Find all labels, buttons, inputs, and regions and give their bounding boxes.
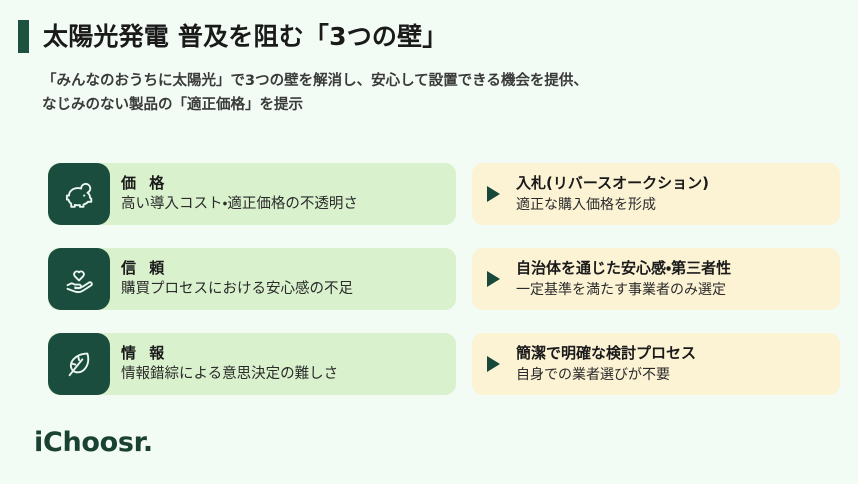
comparison-rows: 価 格 高い導入コスト・適正価格の不透明さ 入札(リバースオークション) 適正な…	[0, 155, 858, 410]
problem-text: 価 格 高い導入コスト・適正価格の不透明さ	[121, 174, 358, 214]
comparison-row: 信 頼 購買プロセスにおける安心感の不足 自治体を通じた安心感・第三者性 一定基…	[0, 240, 858, 325]
play-arrow-icon	[487, 271, 500, 287]
solution-title: 簡潔で明確な検討プロセス	[516, 344, 696, 364]
solution-description: 自身での業者選びが不要	[516, 366, 696, 384]
solution-title: 自治体を通じた安心感・第三者性	[516, 259, 731, 279]
solution-card-municipality: 自治体を通じた安心感・第三者性 一定基準を満たす事業者のみ選定	[472, 248, 840, 310]
piggy-bank-icon	[48, 163, 110, 225]
solution-description: 一定基準を満たす事業者のみ選定	[516, 281, 731, 299]
problem-title: 価 格	[121, 174, 358, 193]
problem-card-price: 価 格 高い導入コスト・適正価格の不透明さ	[48, 163, 456, 225]
leaf-icon	[48, 333, 110, 395]
comparison-row: 情 報 情報錯綜による意思決定の難しさ 簡潔で明確な検討プロセス 自身での業者選…	[0, 325, 858, 410]
slide-root: 太陽光発電 普及を阻む「3つの壁」 「みんなのおうちに太陽光」で3つの壁を解消し…	[0, 0, 858, 484]
title-text: 太陽光発電 普及を阻む「3つの壁」	[43, 24, 448, 49]
title-accent-bar	[18, 20, 29, 53]
solution-text: 自治体を通じた安心感・第三者性 一定基準を満たす事業者のみ選定	[516, 259, 731, 299]
solution-description: 適正な購入価格を形成	[516, 196, 709, 214]
solution-title: 入札(リバースオークション)	[516, 174, 709, 194]
solution-card-auction: 入札(リバースオークション) 適正な購入価格を形成	[472, 163, 840, 225]
play-arrow-icon	[487, 186, 500, 202]
solution-card-process: 簡潔で明確な検討プロセス 自身での業者選びが不要	[472, 333, 840, 395]
problem-description: 情報錯綜による意思決定の難しさ	[121, 365, 338, 384]
play-arrow-icon	[487, 356, 500, 372]
problem-card-information: 情 報 情報錯綜による意思決定の難しさ	[48, 333, 456, 395]
problem-text: 信 頼 購買プロセスにおける安心感の不足	[121, 259, 353, 299]
comparison-row: 価 格 高い導入コスト・適正価格の不透明さ 入札(リバースオークション) 適正な…	[0, 155, 858, 240]
brand-logo: iChoosr.	[34, 429, 153, 456]
problem-description: 購買プロセスにおける安心感の不足	[121, 280, 353, 299]
heart-in-hand-icon	[48, 248, 110, 310]
solution-text: 簡潔で明確な検討プロセス 自身での業者選びが不要	[516, 344, 696, 384]
problem-title: 情 報	[121, 344, 338, 363]
page-title: 太陽光発電 普及を阻む「3つの壁」	[18, 20, 448, 53]
subtitle-line-1: 「みんなのおうちに太陽光」で3つの壁を解消し、安心して設置できる機会を提供、	[42, 70, 588, 94]
problem-text: 情 報 情報錯綜による意思決定の難しさ	[121, 344, 338, 384]
subtitle: 「みんなのおうちに太陽光」で3つの壁を解消し、安心して設置できる機会を提供、 な…	[42, 70, 588, 118]
problem-description: 高い導入コスト・適正価格の不透明さ	[121, 195, 358, 214]
problem-title: 信 頼	[121, 259, 353, 278]
subtitle-line-2: なじみのない製品の「適正価格」を提示	[42, 94, 588, 118]
solution-text: 入札(リバースオークション) 適正な購入価格を形成	[516, 174, 709, 214]
problem-card-trust: 信 頼 購買プロセスにおける安心感の不足	[48, 248, 456, 310]
